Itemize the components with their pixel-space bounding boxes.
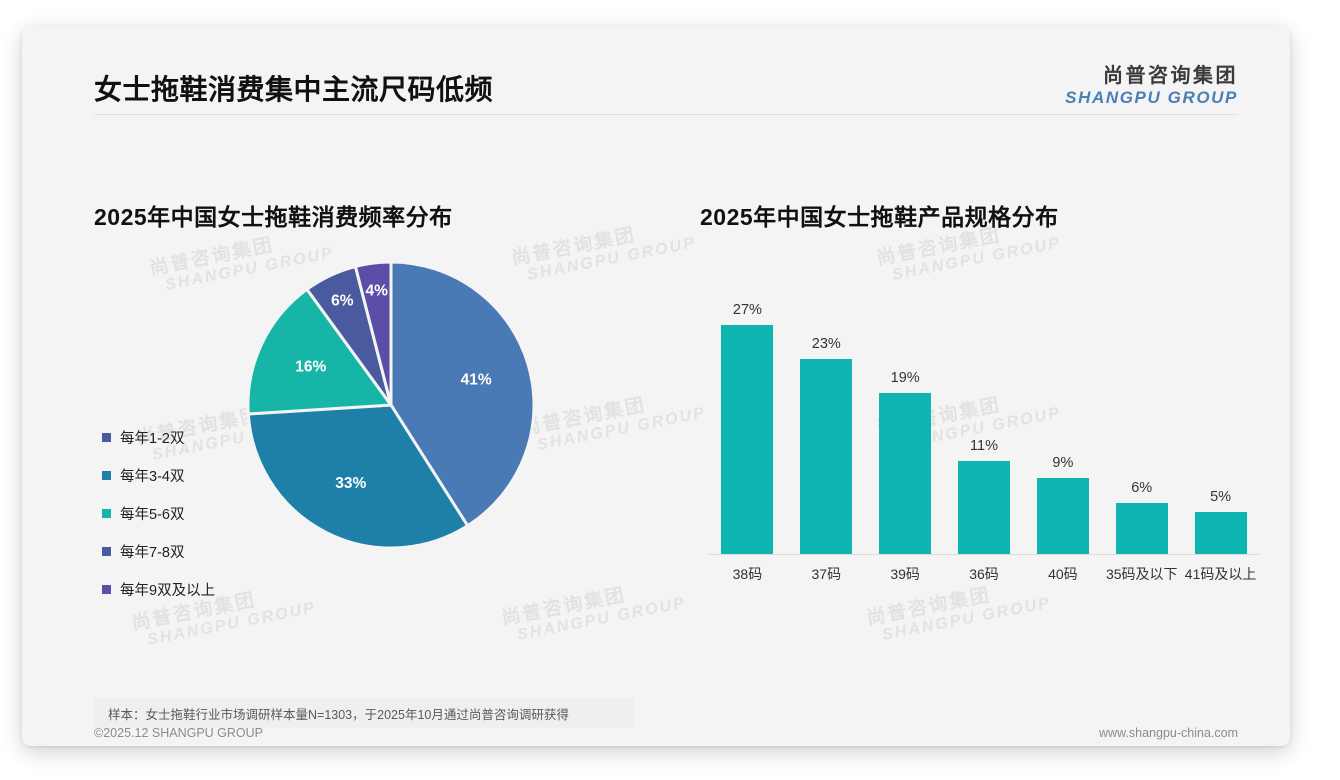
bar-value-label: 23% (812, 336, 841, 352)
page-title: 女士拖鞋消费集中主流尺码低频 (94, 68, 493, 108)
header-divider (94, 114, 1238, 115)
legend-item[interactable]: 每年7-8双 (102, 532, 252, 570)
bar-column[interactable]: 5% (1181, 274, 1260, 554)
bar-value-label: 11% (970, 438, 998, 454)
legend-item[interactable]: 每年1-2双 (102, 418, 252, 456)
bar-value-label: 9% (1052, 455, 1073, 471)
pie-slice-label: 33% (335, 475, 366, 492)
pie-legend: 每年1-2双 每年3-4双 每年5-6双 每年7-8双 每年9双及以上 (102, 418, 252, 608)
bar-category-label: 36码 (945, 564, 1024, 584)
bar-value-label: 5% (1210, 489, 1231, 505)
legend-item-label: 每年7-8双 (120, 541, 184, 562)
legend-swatch-icon (102, 471, 111, 480)
bar-category-label: 41码及以上 (1181, 564, 1260, 584)
footer-website[interactable]: www.shangpu-china.com (1099, 726, 1238, 740)
bar-chart-panel: 2025年中国女士拖鞋产品规格分布 27%23%19%11%9%6%5% 38码… (700, 198, 1260, 628)
slide-card: 尚普咨询集团 SHANGPU GROUP 尚普咨询集团 SHANGPU GROU… (22, 26, 1290, 746)
slide-footer: ©2025.12 SHANGPU GROUP www.shangpu-china… (22, 726, 1290, 746)
bar-value-label: 19% (891, 370, 920, 386)
bar-column[interactable]: 23% (787, 274, 866, 554)
bar-rect[interactable] (879, 393, 931, 554)
bar-rect[interactable] (1116, 503, 1168, 554)
bar-category-label: 35码及以下 (1102, 564, 1181, 584)
pie-slice-label: 6% (331, 293, 354, 310)
bar-chart-title: 2025年中国女士拖鞋产品规格分布 (700, 198, 1260, 232)
bar-rect[interactable] (800, 359, 852, 554)
legend-swatch-icon (102, 547, 111, 556)
footer-copyright: ©2025.12 SHANGPU GROUP (94, 726, 263, 740)
pie-chart-area: 每年1-2双 每年3-4双 每年5-6双 每年7-8双 每年9双及以上 (94, 250, 654, 630)
sample-note-box: 样本：女士拖鞋行业市场调研样本量N=1303，于2025年10月通过尚普咨询调研… (94, 698, 634, 728)
legend-item[interactable]: 每年3-4双 (102, 456, 252, 494)
legend-swatch-icon (102, 509, 111, 518)
bar-value-label: 6% (1131, 480, 1152, 496)
bar-category-label: 37码 (787, 564, 866, 584)
legend-item[interactable]: 每年9双及以上 (102, 570, 252, 608)
pie-graphic: 41%33%16%6%4% (246, 260, 536, 550)
bar-category-label: 38码 (708, 564, 787, 584)
pie-slice-label: 16% (295, 358, 326, 375)
legend-swatch-icon (102, 433, 111, 442)
legend-item-label: 每年5-6双 (120, 503, 184, 524)
bar-column[interactable]: 9% (1023, 274, 1102, 554)
legend-item-label: 每年3-4双 (120, 465, 184, 486)
sample-note-text: 样本：女士拖鞋行业市场调研样本量N=1303，于2025年10月通过尚普咨询调研… (108, 704, 569, 723)
bar-category-label: 40码 (1023, 564, 1102, 584)
slide-header: 女士拖鞋消费集中主流尺码低频 尚普咨询集团 SHANGPU GROUP (22, 26, 1290, 118)
pie-slice-label: 4% (365, 283, 388, 300)
bar-chart-area: 27%23%19%11%9%6%5% 38码37码39码36码40码35码及以下… (700, 254, 1260, 624)
bar-column[interactable]: 19% (866, 274, 945, 554)
legend-item-label: 每年1-2双 (120, 427, 184, 448)
pie-svg[interactable]: 41%33%16%6%4% (246, 260, 536, 550)
legend-swatch-icon (102, 585, 111, 594)
legend-item-label: 每年9双及以上 (120, 579, 215, 600)
legend-item[interactable]: 每年5-6双 (102, 494, 252, 532)
bar-rect[interactable] (721, 325, 773, 554)
bar-column[interactable]: 6% (1102, 274, 1181, 554)
bar-category-label: 39码 (866, 564, 945, 584)
bar-rect[interactable] (1195, 512, 1247, 554)
brand-logo: 尚普咨询集团 SHANGPU GROUP (1065, 65, 1238, 107)
pie-chart-panel: 2025年中国女士拖鞋消费频率分布 每年1-2双 每年3-4双 每年5-6双 每 (94, 198, 654, 628)
logo-text-cn: 尚普咨询集团 (1065, 65, 1238, 87)
bar-axis-line (708, 554, 1260, 555)
bar-axis-labels: 38码37码39码36码40码35码及以下41码及以上 (708, 564, 1260, 584)
bar-plot: 27%23%19%11%9%6%5% (708, 274, 1260, 554)
bar-rect[interactable] (1037, 478, 1089, 554)
pie-chart-title: 2025年中国女士拖鞋消费频率分布 (94, 198, 654, 232)
pie-slice-label: 41% (461, 371, 492, 388)
bar-column[interactable]: 11% (945, 274, 1024, 554)
bar-value-label: 27% (733, 302, 762, 318)
bar-column[interactable]: 27% (708, 274, 787, 554)
logo-text-en: SHANGPU GROUP (1065, 88, 1238, 107)
bar-rect[interactable] (958, 461, 1010, 554)
